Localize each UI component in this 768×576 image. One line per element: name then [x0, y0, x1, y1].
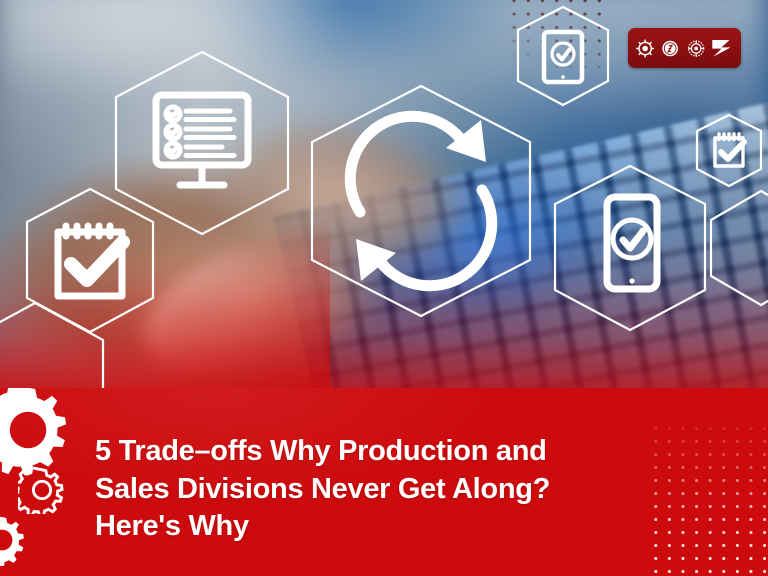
- headline-line-3: Here's Why: [95, 508, 635, 546]
- gear-small-solid: [0, 514, 28, 566]
- headline-line-2: Sales Divisions Never Get Along?: [95, 471, 635, 509]
- company-logo[interactable]: [628, 28, 741, 68]
- gear-medium-outline: [18, 466, 66, 514]
- gear-circle-mark-icon: [634, 37, 656, 60]
- headline-line-1: 5 Trade–offs Why Production and: [95, 433, 635, 471]
- circle-e-mark-icon: [659, 37, 681, 60]
- dot-grid-pattern-banner: [646, 420, 768, 576]
- gear-dotted-mark-icon: [685, 37, 707, 60]
- gear-large-solid: [0, 388, 76, 478]
- dot-grid-pattern-photo: [507, 0, 605, 68]
- red-title-banner: 5 Trade–offs Why Production and Sales Di…: [0, 388, 768, 576]
- page-title: 5 Trade–offs Why Production and Sales Di…: [95, 433, 635, 546]
- article-header-banner: 5 Trade–offs Why Production and Sales Di…: [0, 0, 768, 576]
- photo-red-fade-left: [0, 190, 330, 420]
- arrow-chevron-mark-icon: [710, 36, 735, 60]
